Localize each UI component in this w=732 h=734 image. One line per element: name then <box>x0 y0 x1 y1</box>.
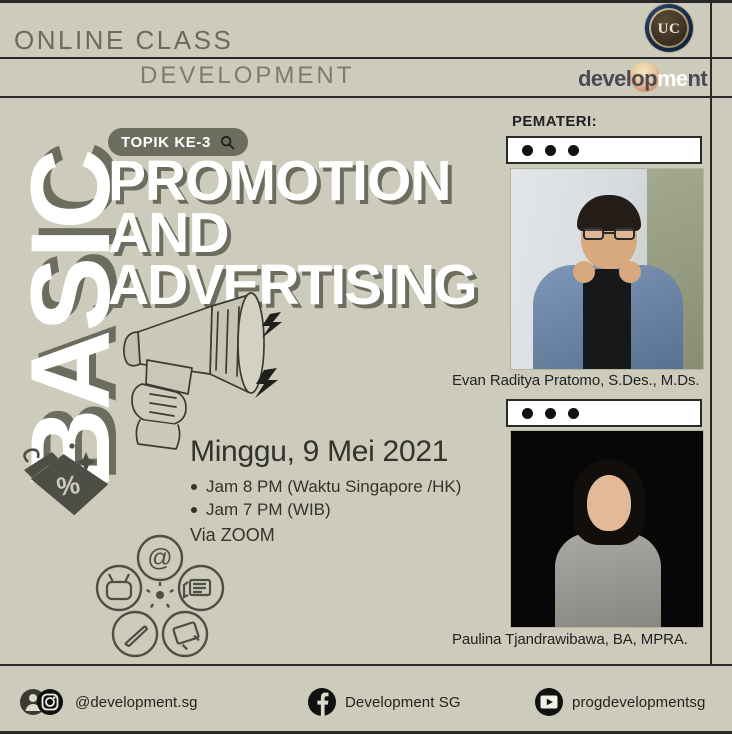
window-dot-icon <box>545 408 556 419</box>
footer-handle-facebook: Development SG <box>345 694 461 711</box>
frame-rule-right <box>710 0 712 666</box>
event-times-list: Jam 8 PM (Waktu Singapore /HK) Jam 7 PM … <box>190 475 461 521</box>
facebook-icon <box>308 688 336 716</box>
event-platform: Via ZOOM <box>190 525 275 546</box>
speaker-photo-2 <box>510 430 704 628</box>
university-seal-text: UC <box>645 4 693 52</box>
window-dot-icon <box>568 408 579 419</box>
wordmark-part-2: me <box>657 66 688 91</box>
search-icon <box>220 135 235 150</box>
header-subtitle-development: DEVELOPMENT <box>140 62 354 90</box>
frame-rule-top <box>0 0 732 3</box>
poster-canvas: ONLINE CLASS DEVELOPMENT UC development … <box>0 0 732 734</box>
footer-handle-instagram: @development.sg <box>75 694 198 711</box>
speaker-name-2: Paulina Tjandrawibawa, BA, MPRA. <box>452 631 688 648</box>
session-title-line-2: AND <box>108 207 508 259</box>
frame-rule-mid-1 <box>0 57 732 59</box>
speaker-photo-1 <box>510 168 704 370</box>
wordmark-part-3: nt <box>688 66 708 91</box>
development-wordmark: development <box>578 66 707 92</box>
svg-text:%: % <box>55 469 82 502</box>
university-seal-icon: UC <box>645 4 693 52</box>
header-title-online-class: ONLINE CLASS <box>14 25 233 56</box>
tv-icon <box>97 566 141 610</box>
window-dot-icon <box>545 145 556 156</box>
discount-price-tag-icon: % <box>12 440 117 530</box>
frame-rule-bottom-1 <box>0 664 732 666</box>
event-time-item: Jam 8 PM (Waktu Singapore /HK) <box>190 475 461 498</box>
session-title-line-1: PROMOTION <box>108 155 508 207</box>
event-date: Minggu, 9 Mei 2021 <box>190 435 448 469</box>
youtube-icon <box>535 688 563 716</box>
frame-rule-mid-2 <box>0 96 732 98</box>
media-channels-cluster: @ <box>95 530 225 660</box>
topic-badge-label: TOPIK KE-3 <box>121 134 211 151</box>
speaker-name-1: Evan Raditya Pratomo, S.Des., M.Ds. <box>452 372 699 389</box>
speakers-label: PEMATERI: <box>512 113 597 130</box>
window-dot-icon <box>568 145 579 156</box>
footer-account-facebook[interactable]: Development SG <box>308 688 461 716</box>
megaphone-icon <box>92 288 292 453</box>
footer-handle-youtube: progdevelopmentsg <box>572 694 705 711</box>
wordmark-part-1: develop <box>578 66 657 91</box>
footer-account-youtube[interactable]: progdevelopmentsg <box>535 688 705 716</box>
speaker-window-bar-1 <box>506 136 702 164</box>
footer-account-instagram[interactable]: @development.sg <box>20 688 198 716</box>
window-dot-icon <box>522 145 533 156</box>
window-dot-icon <box>522 408 533 419</box>
billboard-icon <box>163 612 207 656</box>
instagram-icon <box>20 688 66 716</box>
event-time-item: Jam 7 PM (WIB) <box>190 498 461 521</box>
speaker-window-bar-2 <box>506 399 702 427</box>
svg-text:@: @ <box>147 544 172 572</box>
